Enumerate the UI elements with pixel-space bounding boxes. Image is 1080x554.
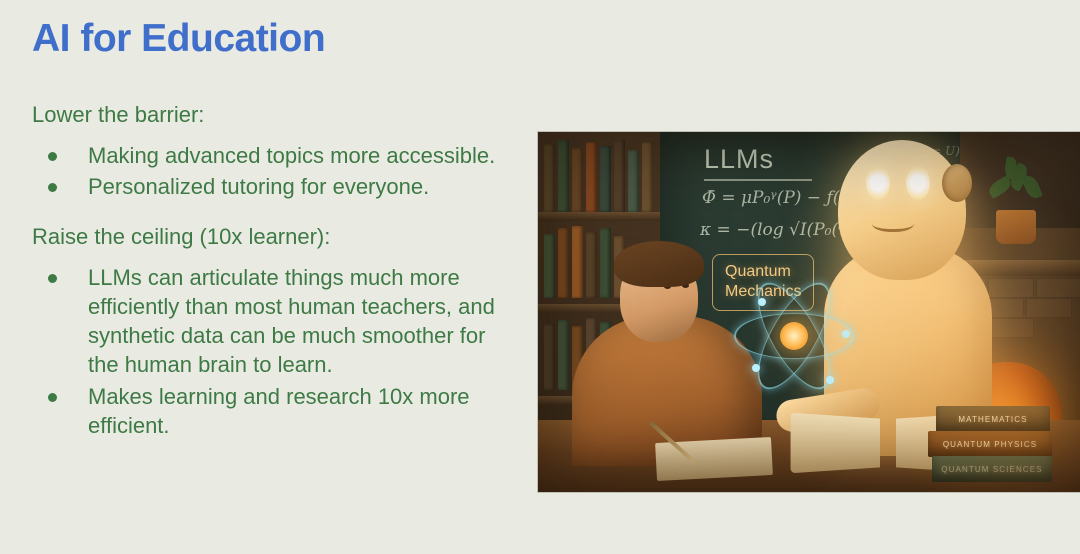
section-lead-lower-the-barrier: Lower the barrier:: [32, 100, 522, 129]
list-item-label: Makes learning and research 10x more eff…: [88, 384, 470, 438]
list-item: Makes learning and research 10x more eff…: [32, 382, 522, 441]
list-item-label: Making advanced topics more accessible.: [88, 143, 495, 168]
illustration-scene: LLMs Φ̄ = μP₀ᵞ(P) − ƒ(r κ = −(log √I(P₀(…: [538, 132, 1080, 492]
book-spine: QUANTUM SCIENCES: [932, 456, 1052, 482]
list-item: LLMs can articulate things much more eff…: [32, 263, 522, 380]
bullet-dot-icon: [48, 152, 57, 161]
robot-ear: [942, 164, 972, 202]
slide-illustration: LLMs Φ̄ = μP₀ᵞ(P) − ƒ(r κ = −(log √I(P₀(…: [538, 132, 1080, 492]
slide: AI for Education Lower the barrier: Maki…: [0, 0, 1080, 554]
list-item-label: Personalized tutoring for everyone.: [88, 174, 429, 199]
book-spine: QUANTUM PHYSICS: [928, 431, 1052, 457]
chalkboard-equation: κ = −(log √I(P₀(ᵃ⁄₀): [700, 220, 861, 240]
section-lead-raise-the-ceiling: Raise the ceiling (10x learner):: [32, 222, 522, 251]
bullet-list-raise-the-ceiling: LLMs can articulate things much more eff…: [32, 263, 522, 441]
bullet-dot-icon: [48, 183, 57, 192]
atom-hologram-icon: [734, 276, 854, 396]
list-item: Making advanced topics more accessible.: [32, 141, 522, 170]
robot-head: [838, 140, 966, 280]
student-hair: [614, 241, 704, 287]
atom-nucleus: [780, 322, 808, 350]
list-item-label: LLMs can articulate things much more eff…: [88, 265, 495, 378]
bullet-dot-icon: [48, 274, 57, 283]
chalkboard-heading-underline: [704, 179, 812, 181]
robot-eye-right: [906, 166, 930, 200]
list-item: Personalized tutoring for everyone.: [32, 172, 522, 201]
bullet-dot-icon: [48, 393, 57, 402]
book-spine: MATHEMATICS: [936, 406, 1050, 432]
chalkboard-equation: Φ̄ = μP₀ᵞ(P) − ƒ(r: [702, 188, 848, 208]
slide-body-text: Lower the barrier: Making advanced topic…: [32, 100, 522, 442]
potted-plant: [996, 210, 1036, 244]
chalkboard-heading: LLMs: [704, 144, 774, 175]
book-stack: MATHEMATICS QUANTUM PHYSICS QUANTUM SCIE…: [928, 407, 1052, 482]
page-title: AI for Education: [32, 16, 325, 63]
bullet-list-lower-the-barrier: Making advanced topics more accessible. …: [32, 141, 522, 202]
robot-mouth: [872, 214, 914, 232]
robot-eye-left: [866, 166, 890, 200]
